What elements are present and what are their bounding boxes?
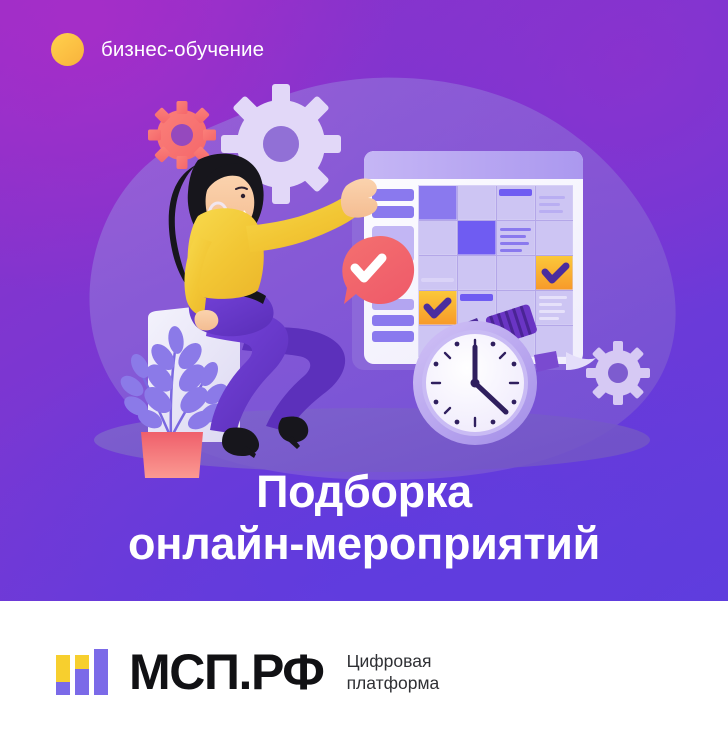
logo-wordmark: МСП.РФ <box>129 647 324 697</box>
msp-bars-icon <box>56 649 108 695</box>
yellow-dot-icon <box>51 33 84 66</box>
page-title: Подборка онлайн-мероприятий <box>0 466 728 570</box>
calendar-cell-filled <box>458 221 496 255</box>
hand-resting <box>195 310 219 330</box>
calendar-cell-check <box>419 291 457 325</box>
calendar-cell-check <box>536 256 573 290</box>
headline-line-2: онлайн-мероприятий <box>24 518 704 570</box>
tagline-line-1: Цифровая <box>347 651 440 672</box>
brand-lockup: МСП.РФ Цифровая платформа <box>56 647 439 697</box>
check-badge <box>342 236 414 304</box>
header: бизнес-обучение <box>51 33 264 66</box>
headline-line-1: Подборка <box>24 466 704 518</box>
gear-right-lavender <box>586 341 650 405</box>
tagline-line-2: платформа <box>347 673 440 694</box>
calendar-cell-filled <box>419 186 457 220</box>
footer: МСП.РФ Цифровая платформа <box>0 601 728 744</box>
logo-tagline: Цифровая платформа <box>347 651 440 694</box>
promo-poster: бизнес-обучение Подборка онлайн-мероприя… <box>0 0 728 744</box>
header-label: бизнес-обучение <box>101 38 264 62</box>
